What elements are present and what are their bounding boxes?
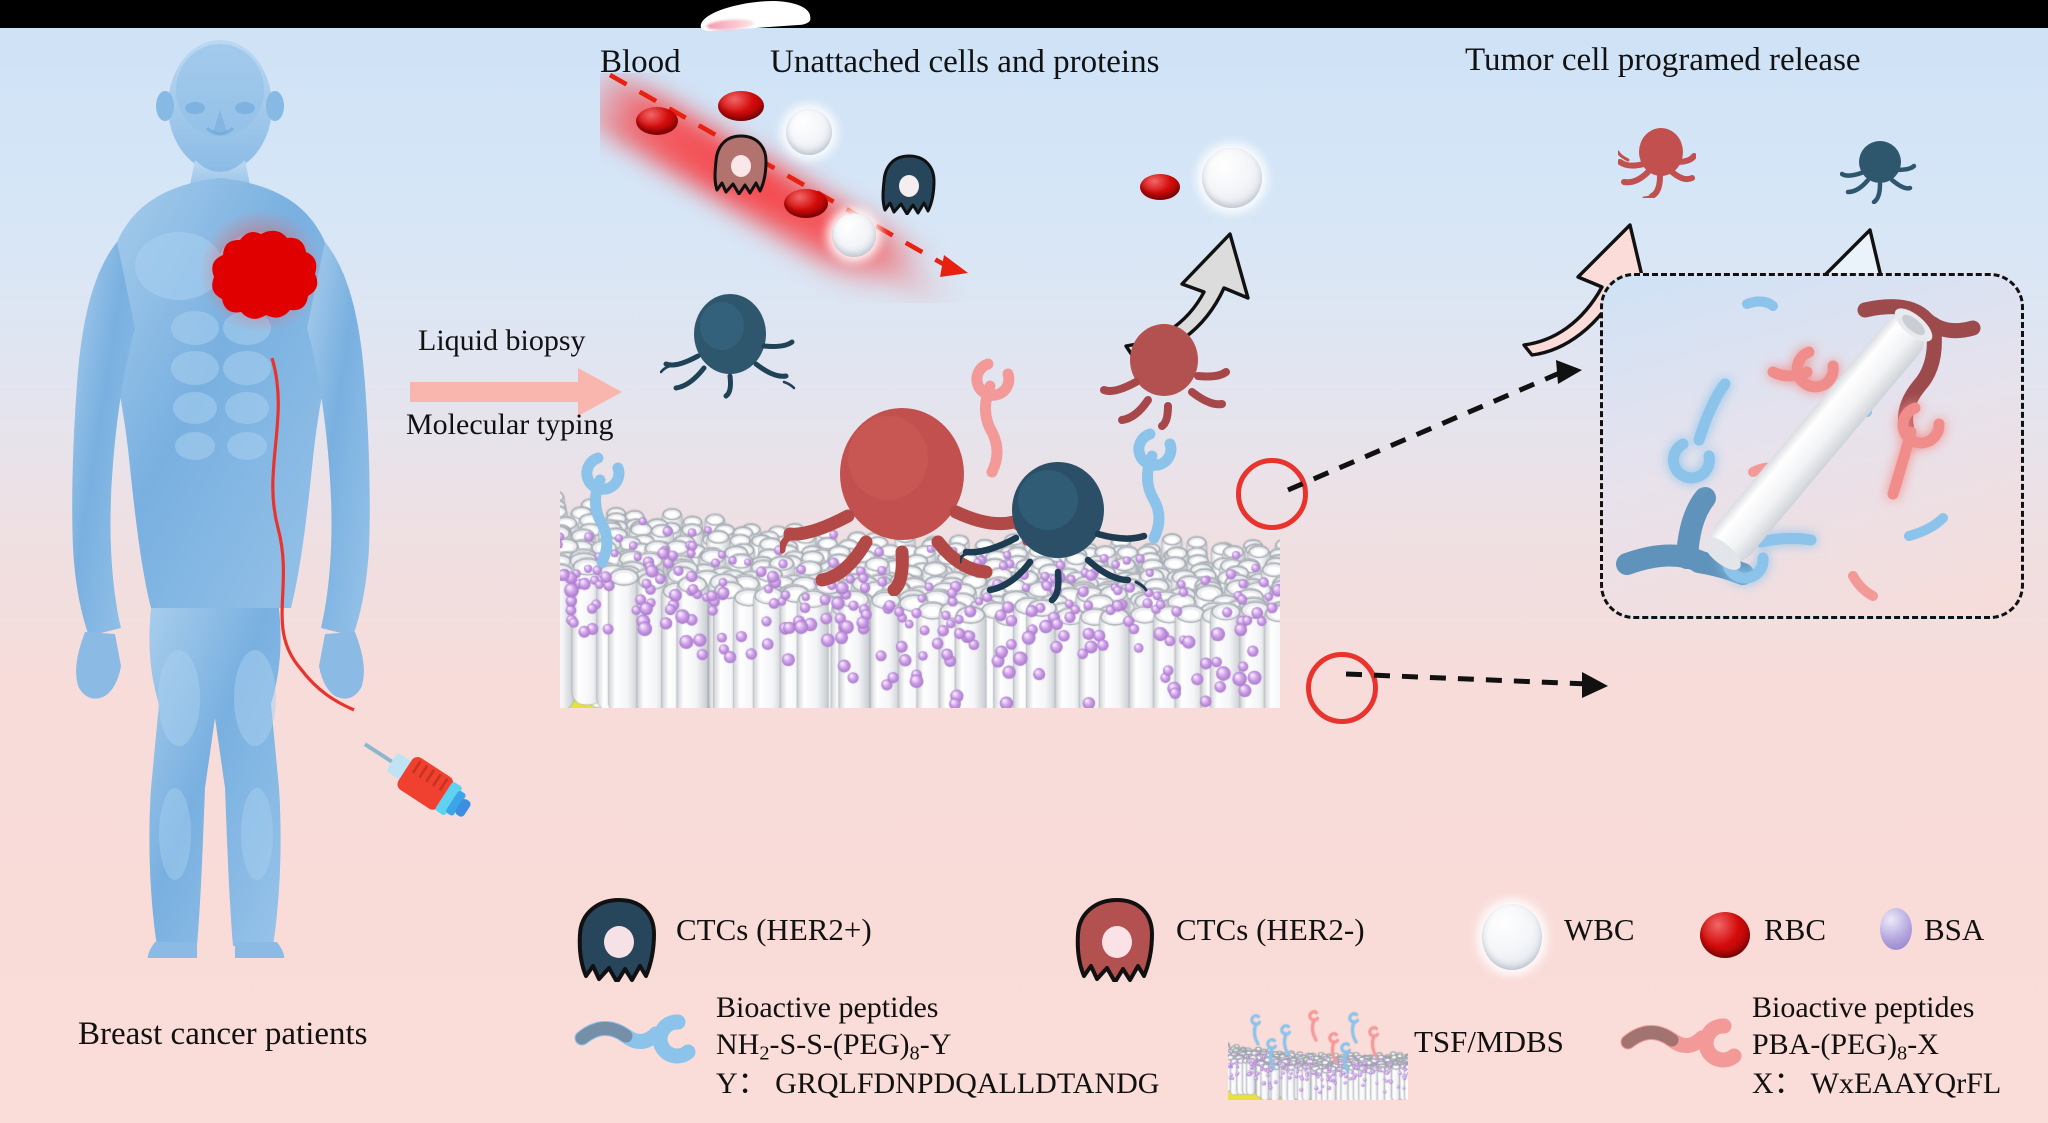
legend-label-ctc-her2-positive: CTCs (HER2+) — [676, 912, 872, 948]
legend-icon-tsf-mdbs — [1228, 990, 1408, 1100]
released-ctc-her2-negative — [1618, 126, 1696, 198]
label-unattached: Unattached cells and proteins — [770, 44, 1159, 81]
legend-peptide-right-block: Bioactive peptides PBA-(PEG)8-X X： WxEAA… — [1752, 990, 2001, 1103]
legend-icon-wbc — [1482, 904, 1542, 970]
legend-icon-peptide-red — [1620, 1016, 1750, 1076]
figure-canvas: Blood Unattached cells and proteins Tumo… — [0, 0, 2048, 1123]
legend-peptide-right-sequence: X： WxEAAYQrFL — [1752, 1066, 2001, 1103]
legend-peptide-left-title: Bioactive peptides — [716, 990, 1159, 1027]
label-molecular-typing: Molecular typing — [406, 408, 613, 442]
wbc — [1202, 148, 1262, 208]
legend-icon-ctc-her2-positive — [574, 896, 664, 982]
leader-line-upper — [1280, 328, 1620, 528]
blood-stream — [600, 73, 1030, 303]
letterbox-bar — [0, 0, 2048, 28]
legend-peptide-left-sequence: Y： GRQLFDNPDQALLDTANDG — [716, 1066, 1159, 1103]
legend-label-bsa: BSA — [1924, 912, 1984, 948]
released-ctc-her2-positive — [1840, 138, 1918, 204]
wbc — [786, 109, 832, 155]
rbc — [1140, 174, 1180, 200]
legend-peptide-right-title: Bioactive peptides — [1752, 990, 2001, 1027]
ctc-her2-positive — [880, 153, 938, 215]
wbc — [832, 213, 876, 257]
syringe — [345, 728, 475, 838]
peptide-blue-free-2 — [1120, 414, 1200, 544]
legend-label-wbc: WBC — [1564, 912, 1635, 948]
legend-icon-bsa — [1880, 908, 1912, 950]
ctc-her2-negative — [712, 133, 770, 195]
label-blood: Blood — [600, 44, 681, 81]
captured-ctc-her2-positive — [660, 290, 800, 400]
diagram-body: Blood Unattached cells and proteins Tumo… — [0, 28, 2048, 1123]
rbc — [636, 107, 678, 135]
legend-peptide-left-block: Bioactive peptides NH2-S-S-(PEG)8-Y Y： G… — [716, 990, 1159, 1103]
peptide-red-free — [958, 344, 1038, 484]
legend-peptide-left-formula: NH2-S-S-(PEG)8-Y — [716, 1027, 1159, 1067]
legend-peptide-right-formula: PBA-(PEG)8-X — [1752, 1027, 2001, 1067]
legend-icon-ctc-her2-negative — [1072, 896, 1162, 982]
label-release: Tumor cell programed release — [1465, 42, 1861, 79]
legend-label-rbc: RBC — [1764, 912, 1826, 948]
unattached-particles — [1140, 138, 1340, 228]
label-breast-cancer-patients: Breast cancer patients — [78, 1016, 368, 1053]
tsf-mdbs-substrate — [560, 278, 1280, 708]
inset-magnified-view — [1600, 273, 2024, 619]
legend-label-tsf-mdbs: TSF/MDBS — [1414, 1024, 1564, 1060]
legend-icon-peptide-blue — [574, 1008, 704, 1068]
label-liquid-biopsy: Liquid biopsy — [418, 324, 586, 358]
tumor-mass — [212, 231, 317, 319]
rbc — [718, 91, 764, 121]
rbc — [784, 189, 828, 218]
peptide-blue-free — [568, 438, 648, 568]
leader-line-lower — [1340, 588, 1640, 738]
legend-icon-rbc — [1700, 912, 1750, 958]
legend-label-ctc-her2-negative: CTCs (HER2-) — [1176, 912, 1365, 948]
